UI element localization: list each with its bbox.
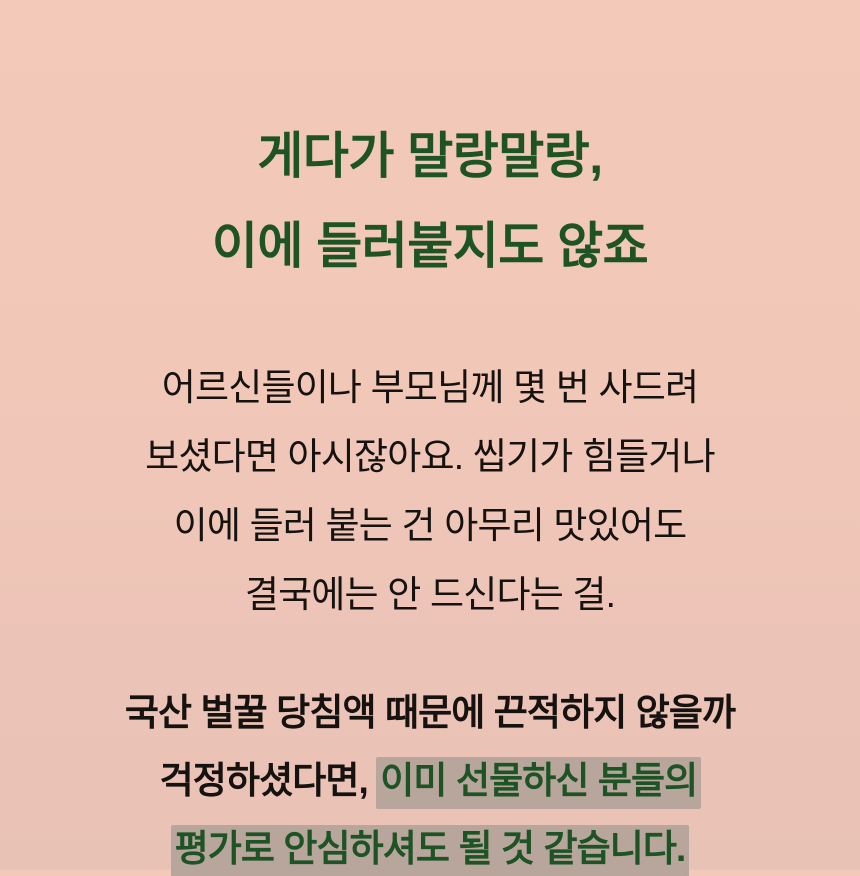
closing-paragraph-line-1: 국산 벌꿀 당침액 때문에 끈적하지 않을까 — [0, 694, 860, 731]
closing-paragraph-line-2: 걱정하셨다면, 이미 선물하신 분들의 — [0, 762, 860, 799]
body-paragraph-line-3: 이에 들러 붙는 건 아무리 맛있어도 — [0, 507, 860, 544]
closing-paragraph-line-3: 평가로 안심하셔도 될 것 같습니다. — [0, 830, 860, 867]
headline-line-2: 이에 들러붙지도 않죠 — [0, 221, 860, 271]
body-paragraph-line-1: 어르신들이나 부모님께 몇 번 사드려 — [0, 369, 860, 406]
headline-line-1: 게다가 말랑말랑, — [0, 131, 860, 181]
body-paragraph-line-2: 보셨다면 아시잖아요. 씹기가 힘들거나 — [0, 438, 860, 475]
closing-line-3-highlighted-text: 평가로 안심하셔도 될 것 같습니다. — [172, 826, 689, 876]
closing-line-2-highlighted-text: 이미 선물하신 분들의 — [377, 758, 700, 808]
promo-card: 게다가 말랑말랑, 이에 들러붙지도 않죠 어르신들이나 부모님께 몇 번 사드… — [0, 0, 860, 870]
closing-line-2-plain-text: 걱정하셨다면, — [160, 760, 368, 801]
body-paragraph-line-4: 결국에는 안 드신다는 걸. — [0, 576, 860, 613]
